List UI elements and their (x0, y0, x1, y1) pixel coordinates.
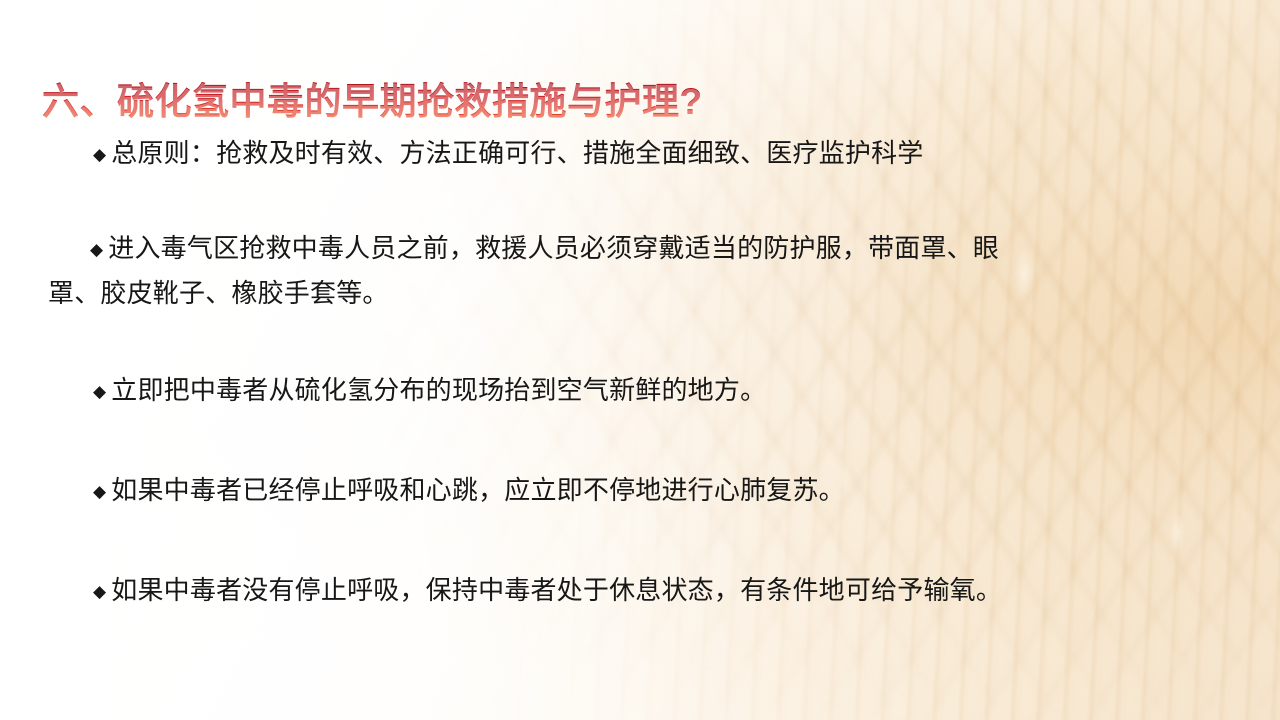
list-item-text: 进入毒气区抢救中毒人员之前，救援人员必须穿戴适当的防护服，带面罩、眼 (108, 233, 999, 263)
list-item-text: 罩、胶皮靴子、橡胶手套等。 (48, 278, 389, 308)
list-item: ◆如果中毒者没有停止呼吸，保持中毒者处于休息状态，有条件地可给予输氧。 (93, 573, 1002, 609)
list-item-continuation: 罩、胶皮靴子、橡胶手套等。 (48, 276, 389, 312)
list-item: ◆立即把中毒者从硫化氢分布的现场抬到空气新鲜的地方。 (93, 373, 766, 409)
diamond-bullet-icon: ◆ (93, 580, 106, 603)
list-item-text: 立即把中毒者从硫化氢分布的现场抬到空气新鲜的地方。 (111, 375, 766, 405)
list-item-text: 如果中毒者已经停止呼吸和心跳，应立即不停地进行心肺复苏。 (111, 475, 845, 505)
slide-title: 六、硫化氢中毒的早期抢救措施与护理? (42, 80, 703, 124)
list-item-text: 总原则：抢救及时有效、方法正确可行、措施全面细致、医疗监护科学 (111, 138, 923, 168)
list-item: ◆如果中毒者已经停止呼吸和心跳，应立即不停地进行心肺复苏。 (93, 473, 845, 509)
diamond-bullet-icon: ◆ (93, 480, 106, 503)
slide-canvas: 六、硫化氢中毒的早期抢救措施与护理? ◆总原则：抢救及时有效、方法正确可行、措施… (0, 0, 1280, 720)
list-item-text: 如果中毒者没有停止呼吸，保持中毒者处于休息状态，有条件地可给予输氧。 (111, 575, 1002, 605)
slide-content: 六、硫化氢中毒的早期抢救措施与护理? ◆总原则：抢救及时有效、方法正确可行、措施… (0, 0, 1280, 720)
list-item: ◆总原则：抢救及时有效、方法正确可行、措施全面细致、医疗监护科学 (93, 136, 923, 172)
diamond-bullet-icon: ◆ (93, 380, 106, 403)
diamond-bullet-icon: ◆ (93, 143, 106, 166)
list-item: ◆进入毒气区抢救中毒人员之前，救援人员必须穿戴适当的防护服，带面罩、眼 (90, 231, 999, 267)
diamond-bullet-icon: ◆ (90, 238, 103, 261)
